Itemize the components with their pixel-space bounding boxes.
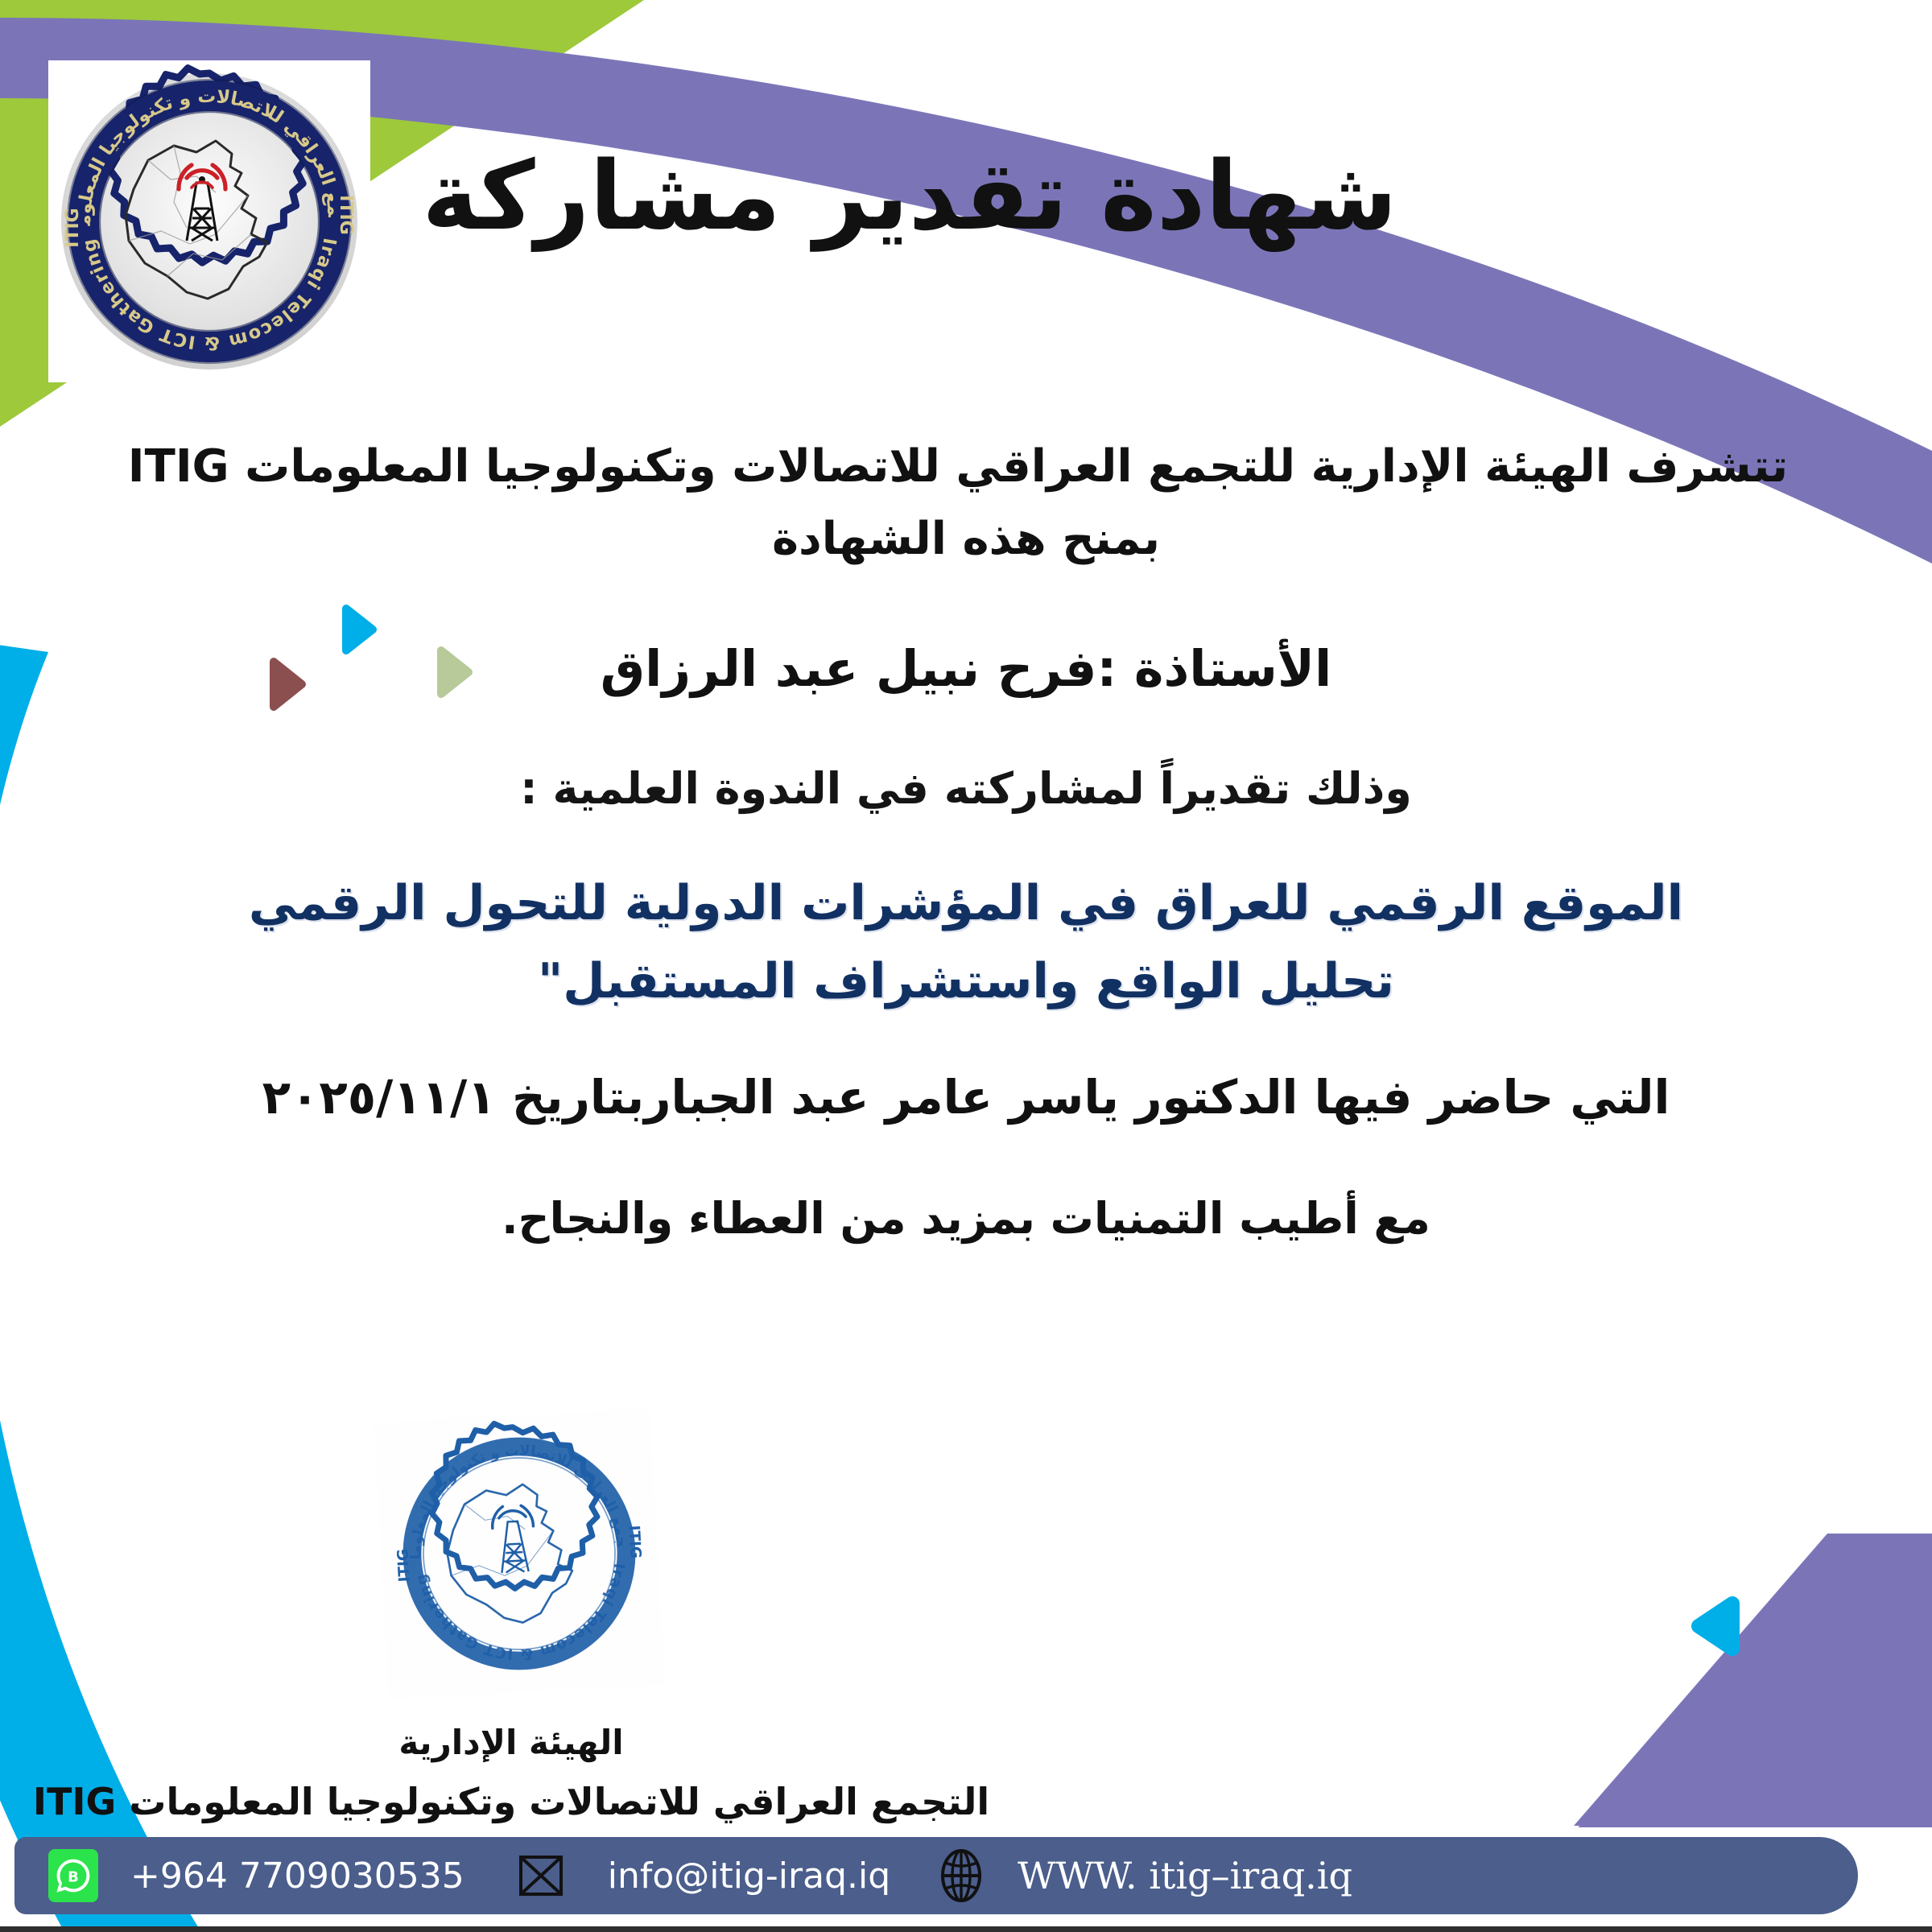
purple-band-bottom-right-2 bbox=[1574, 1534, 1932, 1826]
signature-line-2: التجمع العراقي للاتصالات وتكنولوجيا المع… bbox=[0, 1780, 1022, 1823]
seminar-title-line-2: تحليل الواقع واستشراف المستقبل" bbox=[89, 947, 1843, 1016]
website-contact[interactable]: WWW. itig–iraq.iq bbox=[935, 1847, 1352, 1904]
recipient-name: الأستاذة :فرح نبيل عبد الرزاق bbox=[89, 631, 1843, 706]
intro-line-2: بمنح هذه الشهادة bbox=[89, 506, 1843, 573]
contact-footer-bar: B +964 7709030535 info@itig-iraq.iq bbox=[14, 1837, 1858, 1914]
signature-line-1: الهيئة الإدارية bbox=[0, 1723, 1022, 1762]
website-url: WWW. itig–iraq.iq bbox=[1018, 1854, 1352, 1897]
certificate-page: التجمع العراقي للاتصالات و تكنولوجيا الم… bbox=[0, 0, 1932, 1932]
email-contact[interactable]: info@itig-iraq.iq bbox=[516, 1852, 890, 1899]
itig-stamp-seal: التجمع العراقي للاتصالات و تكنولوجيا الم… bbox=[371, 1406, 667, 1702]
phone-contact[interactable]: B +964 7709030535 bbox=[48, 1849, 464, 1902]
bottom-rule-divider bbox=[0, 1926, 1932, 1932]
envelope-icon bbox=[516, 1852, 566, 1899]
signature-block: الهيئة الإدارية التجمع العراقي للاتصالات… bbox=[0, 1723, 1022, 1823]
logo-abbr-left: ITIG bbox=[63, 208, 83, 247]
globe-icon bbox=[935, 1847, 987, 1904]
svg-text:B: B bbox=[68, 1869, 79, 1886]
intro-line-1: تتشرف الهيئة الإدارية للتجمع العراقي للا… bbox=[89, 435, 1843, 499]
itig-logo: التجمع العراقي للاتصالات و تكنولوجيا الم… bbox=[44, 60, 374, 382]
purple-band-bottom-right bbox=[1578, 1562, 1932, 1827]
lecturer-and-date-line: التي حاضر فيها الدكتور ياسر عامر عبد الج… bbox=[89, 1063, 1843, 1133]
reason-line: وذلك تقديراً لمشاركته في الندوة العلمية … bbox=[89, 756, 1843, 821]
wish-line: مع أطيب التمنيات بمزيد من العطاء والنجاح… bbox=[89, 1186, 1843, 1251]
certificate-title: شهادة تقدير مشاركة bbox=[346, 137, 1473, 256]
seminar-title-line-1: الموقع الرقمي للعراق في المؤشرات الدولية… bbox=[89, 869, 1843, 938]
certificate-body: تتشرف الهيئة الإدارية للتجمع العراقي للا… bbox=[89, 435, 1843, 1251]
email-address: info@itig-iraq.iq bbox=[608, 1856, 890, 1897]
phone-number: +964 7709030535 bbox=[130, 1856, 464, 1897]
seal-abbr-left: ITIG bbox=[394, 1548, 413, 1582]
whatsapp-icon: B bbox=[48, 1849, 98, 1902]
triangle-cyan-large-icon bbox=[1699, 1604, 1732, 1649]
seal-abbr-right: ITIG bbox=[625, 1525, 644, 1558]
